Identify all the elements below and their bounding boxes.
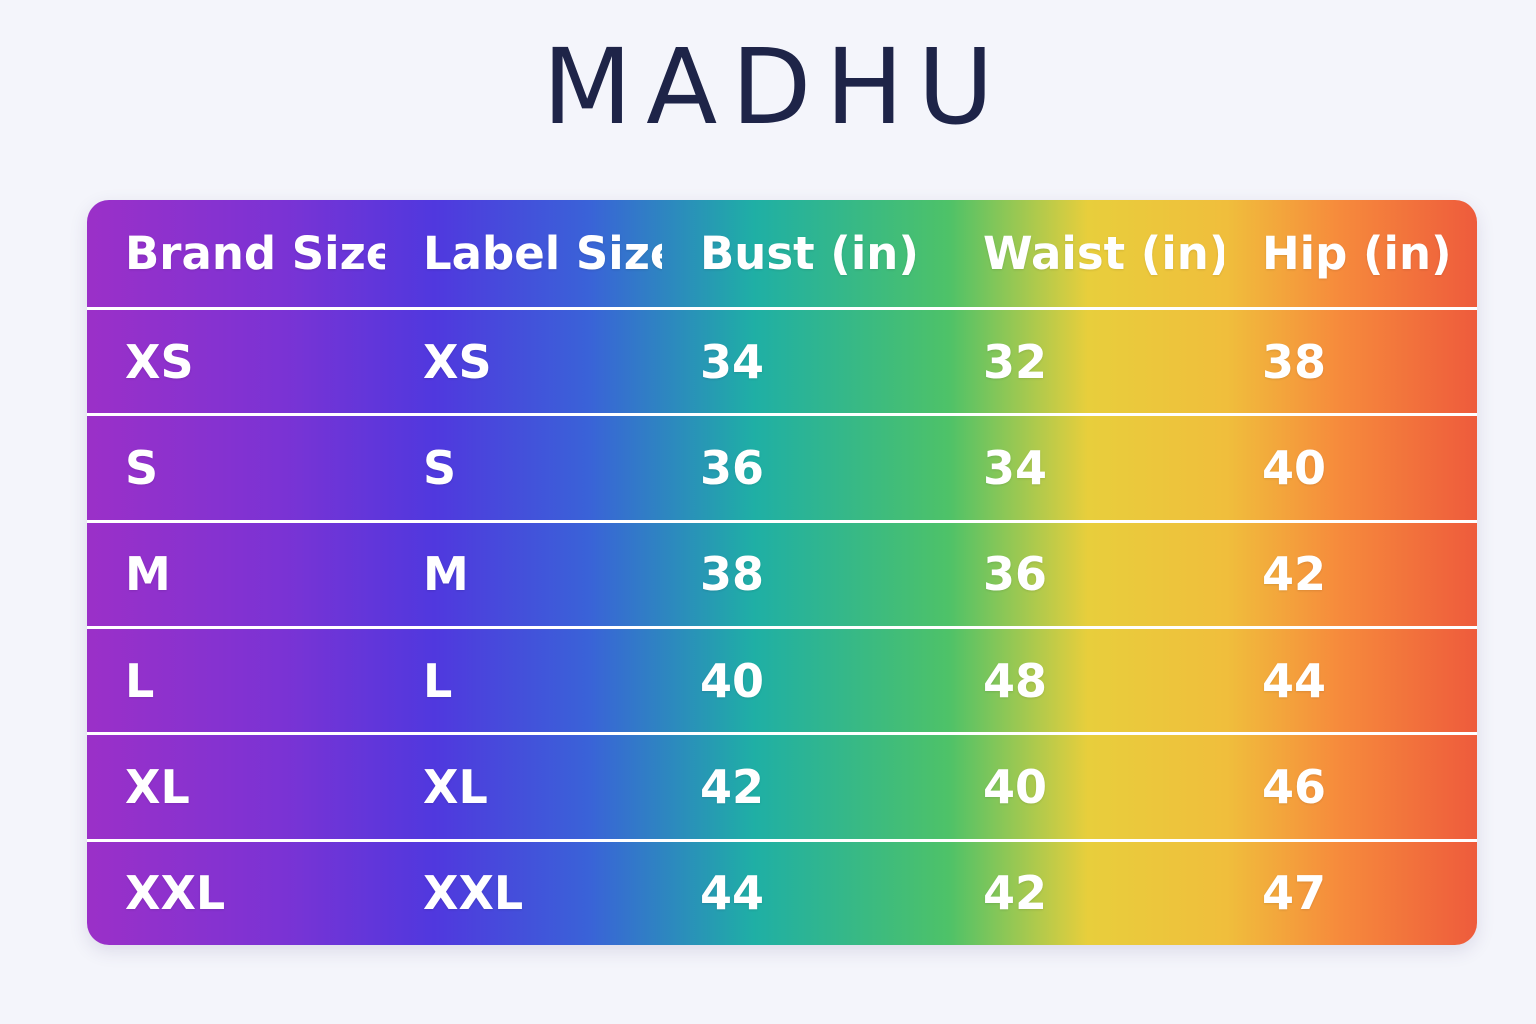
cell-value: 42 [983,866,1047,920]
header-label: Label Size [423,227,662,280]
cell-hip: 47 [1224,842,1477,945]
cell-bust: 36 [662,416,945,519]
cell-label-size: S [385,416,662,519]
table-header-row: Brand Size Label Size Bust (in) Waist (i… [87,200,1477,307]
cell-brand-size: XL [87,735,385,838]
cell-value: 40 [700,654,764,708]
header-cell-label-size: Label Size [385,200,662,307]
cell-brand-size: XS [87,310,385,413]
table-row: XS XS 34 32 38 [87,307,1477,413]
cell-label-size: XXL [385,842,662,945]
page-title: MADHU [0,28,1536,148]
cell-label-size: XS [385,310,662,413]
table-row: L L 40 48 44 [87,626,1477,732]
cell-brand-size: M [87,523,385,626]
cell-waist: 36 [945,523,1224,626]
cell-label-size: M [385,523,662,626]
cell-value: 38 [700,547,764,601]
cell-value: L [423,654,452,708]
header-cell-waist: Waist (in) [945,200,1224,307]
header-cell-hip: Hip (in) [1224,200,1477,307]
cell-waist: 34 [945,416,1224,519]
cell-value: 42 [1262,547,1326,601]
cell-value: 40 [983,760,1047,814]
cell-value: 32 [983,335,1047,389]
cell-value: XS [125,335,194,389]
cell-value: XS [423,335,492,389]
cell-waist: 48 [945,629,1224,732]
header-cell-brand-size: Brand Size [87,200,385,307]
cell-value: M [423,547,469,601]
header-label: Brand Size [125,227,385,280]
cell-value: 47 [1262,866,1326,920]
cell-value: S [125,441,158,495]
cell-waist: 40 [945,735,1224,838]
cell-value: L [125,654,154,708]
table-row: M M 38 36 42 [87,520,1477,626]
cell-hip: 44 [1224,629,1477,732]
cell-label-size: XL [385,735,662,838]
cell-value: 42 [700,760,764,814]
cell-waist: 42 [945,842,1224,945]
cell-value: 34 [983,441,1047,495]
cell-waist: 32 [945,310,1224,413]
cell-value: XL [125,760,190,814]
cell-bust: 38 [662,523,945,626]
header-label: Bust (in) [700,227,919,280]
cell-bust: 44 [662,842,945,945]
size-chart-page: MADHU Brand Size Label Size Bust (in) Wa… [0,0,1536,1024]
cell-value: 46 [1262,760,1326,814]
cell-hip: 42 [1224,523,1477,626]
table-row: XL XL 42 40 46 [87,732,1477,838]
cell-hip: 38 [1224,310,1477,413]
header-label: Hip (in) [1262,227,1452,280]
cell-bust: 34 [662,310,945,413]
cell-value: XXL [423,866,523,920]
cell-value: 36 [700,441,764,495]
cell-value: XXL [125,866,225,920]
cell-value: 34 [700,335,764,389]
cell-hip: 46 [1224,735,1477,838]
size-chart-table: Brand Size Label Size Bust (in) Waist (i… [87,200,1477,945]
cell-value: 48 [983,654,1047,708]
cell-hip: 40 [1224,416,1477,519]
header-label: Waist (in) [983,227,1224,280]
cell-value: S [423,441,456,495]
cell-brand-size: L [87,629,385,732]
cell-value: 44 [700,866,764,920]
header-cell-bust: Bust (in) [662,200,945,307]
cell-value: M [125,547,171,601]
cell-value: 44 [1262,654,1326,708]
cell-value: 38 [1262,335,1326,389]
cell-value: 40 [1262,441,1326,495]
cell-bust: 40 [662,629,945,732]
cell-value: 36 [983,547,1047,601]
cell-brand-size: XXL [87,842,385,945]
cell-label-size: L [385,629,662,732]
cell-brand-size: S [87,416,385,519]
table-row: XXL XXL 44 42 47 [87,839,1477,945]
cell-value: XL [423,760,488,814]
table-row: S S 36 34 40 [87,413,1477,519]
cell-bust: 42 [662,735,945,838]
